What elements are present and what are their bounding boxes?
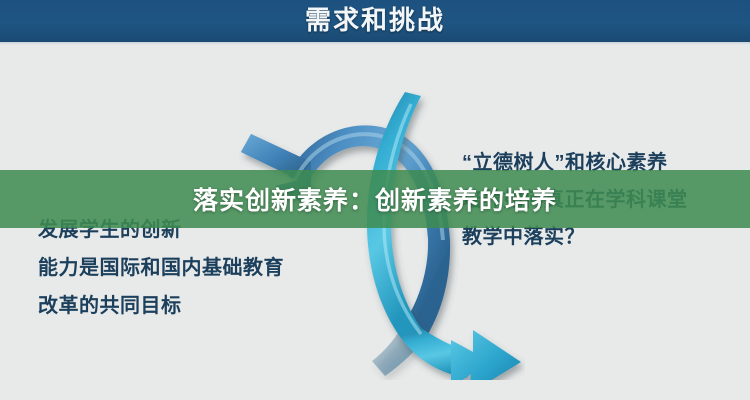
slide-screenshot: 需求和挑战	[0, 0, 750, 400]
overlay-title-text: 落实创新素养：创新素养的培养	[0, 170, 750, 228]
slide-header-title: 需求和挑战	[0, 3, 750, 37]
slide-header-bar: 需求和挑战	[0, 0, 750, 42]
left-text-block: 发展学生的创新 能力是国际和国内基础教育 改革的共同目标	[38, 211, 338, 325]
